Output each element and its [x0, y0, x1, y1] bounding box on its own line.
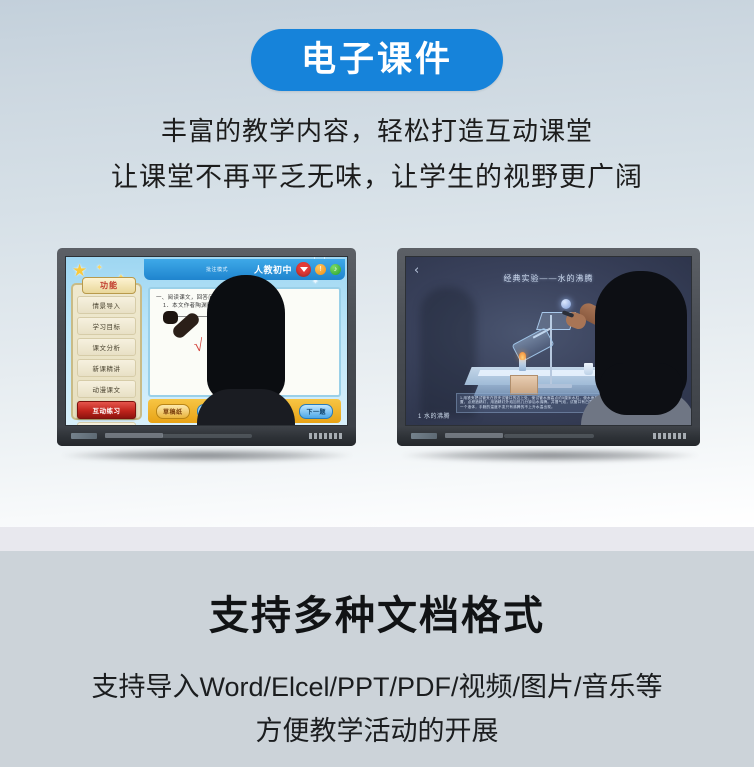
light-source-decor: [561, 299, 571, 309]
annotation-mode-label[interactable]: 批注模式: [206, 266, 228, 273]
student-silhouette: [197, 275, 295, 425]
brand-logo: [411, 433, 437, 439]
formats-heading: 支持多种文档格式: [0, 551, 754, 636]
left-monitor-screen: ★ ✦ ✦ ✦ ✦ ✦ 批注模式 人教初中 ! ♪: [65, 256, 348, 426]
sound-icon[interactable]: ♪: [330, 264, 341, 275]
formats-subtext-2: 方便教学活动的开展: [0, 709, 754, 753]
left-monitor-shadow: [62, 449, 352, 462]
ring-stand-base: [532, 384, 572, 388]
experiment-app: ‹ 经典实验——水的沸腾: [406, 257, 691, 425]
courseware-app: ★ ✦ ✦ ✦ ✦ ✦ 批注模式 人教初中 ! ♪: [66, 257, 347, 425]
experiment-footer-label: 1 水的沸腾: [418, 411, 450, 420]
section-divider-strip: [0, 527, 754, 551]
test-tube: [512, 327, 555, 362]
sidebar-title: 功能: [82, 277, 136, 294]
sidebar-item-5[interactable]: 互动练习: [77, 401, 136, 419]
sidebar-item-3[interactable]: 新课精讲: [77, 359, 136, 377]
sidebar-item-2[interactable]: 课文分析: [77, 338, 136, 356]
sidebar-item-0[interactable]: 情景导入: [77, 296, 136, 314]
left-monitor-chin: [57, 426, 356, 446]
section-badge: 电子课件: [251, 29, 503, 91]
section-badge-label: 电子课件: [301, 42, 453, 79]
draft-paper-button[interactable]: 草稿纸: [156, 404, 190, 419]
formats-subtext-1: 支持导入Word/Elcel/PPT/PDF/视频/图片/音乐等: [0, 665, 754, 709]
wooden-block: [510, 375, 538, 395]
brand-text: [105, 433, 163, 438]
brand-logo: [71, 433, 97, 439]
hero-tagline-1: 丰富的教学内容，轻松打造互动课堂: [0, 108, 754, 154]
sidebar-item-1[interactable]: 学习目标: [77, 317, 136, 335]
chin-midbar: [162, 434, 252, 438]
flame-icon: [519, 352, 526, 360]
courseware-sidebar: 功能 情景导入 学习目标 课文分析 新课精讲 动漫课文 互动练习 扩展天地: [71, 283, 142, 420]
caret-down-icon[interactable]: [296, 262, 311, 277]
promo-page: 电子课件 丰富的教学内容，轻松打造互动课堂 让课堂不再平乏无味，让学生的视野更广…: [0, 0, 754, 767]
hero-tagline-2: 让课堂不再平乏无味，让学生的视野更广阔: [0, 154, 754, 200]
hero-section: 电子课件 丰富的教学内容，轻松打造互动课堂 让课堂不再平乏无味，让学生的视野更广…: [0, 0, 754, 527]
hero-taglines: 丰富的教学内容，轻松打造互动课堂 让课堂不再平乏无味，让学生的视野更广阔: [0, 108, 754, 200]
brand-text: [445, 433, 503, 438]
right-monitor-chin: [397, 426, 700, 446]
next-question-button[interactable]: 下一题: [299, 404, 333, 419]
right-monitor: ‹ 经典实验——水的沸腾: [397, 248, 700, 446]
speaker-grille-icon: [309, 433, 342, 439]
star-decor-icon: ✦: [96, 263, 103, 272]
right-monitor-shadow: [402, 449, 698, 462]
speaker-grille-icon: [653, 433, 686, 439]
formats-section: 支持多种文档格式 支持导入Word/Elcel/PPT/PDF/视频/图片/音乐…: [0, 551, 754, 767]
student-silhouette: [579, 271, 692, 425]
help-icon[interactable]: !: [315, 264, 326, 275]
chin-midbar: [504, 434, 594, 438]
left-monitor: ★ ✦ ✦ ✦ ✦ ✦ 批注模式 人教初中 ! ♪: [57, 248, 356, 446]
sidebar-item-4[interactable]: 动漫课文: [77, 380, 136, 398]
right-monitor-screen: ‹ 经典实验——水的沸腾: [405, 256, 692, 426]
